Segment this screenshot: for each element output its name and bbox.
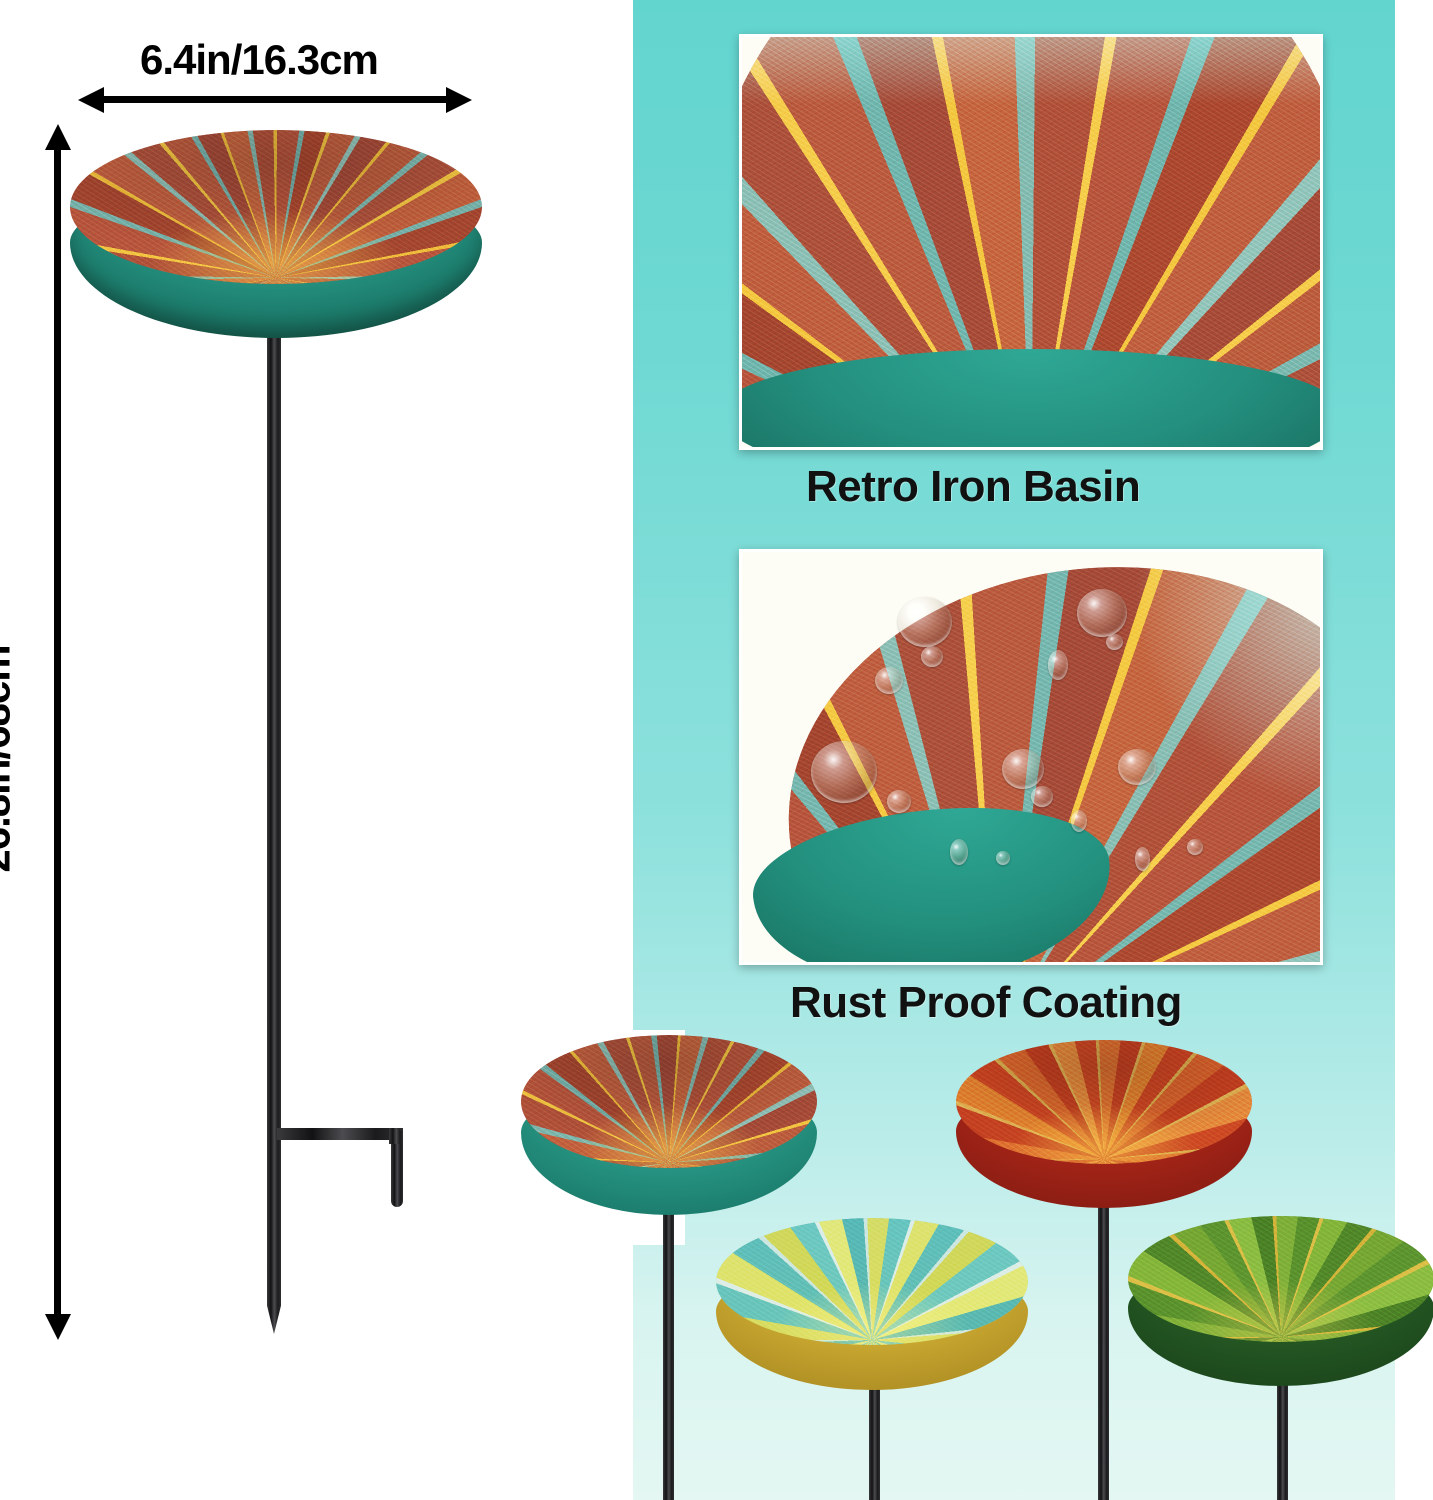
water-droplet: [1031, 786, 1053, 807]
width-dimension-label: 6.4in/16.3cm: [140, 36, 378, 84]
variant-bowl: [521, 1035, 817, 1215]
width-arrow-shaft: [100, 96, 452, 103]
feature-heading-rust-proof-coating: Rust Proof Coating: [790, 978, 1182, 1028]
variant-bowl-dish: [956, 1040, 1252, 1164]
variant-bowl: [716, 1218, 1028, 1390]
water-droplet: [950, 839, 968, 865]
product-infographic: 6.4in/16.3cm 26.8in/68cm: [0, 0, 1433, 1500]
variant-shading: [1128, 1216, 1433, 1342]
width-arrow-head-left: [78, 87, 104, 113]
bowl-dish: [70, 130, 482, 284]
height-arrow-head-top: [45, 124, 71, 150]
variant-shading: [956, 1040, 1252, 1164]
variant-shading: [716, 1218, 1028, 1345]
water-droplet: [875, 667, 903, 694]
variant-stake-rod: [1098, 1196, 1109, 1500]
water-droplet: [1002, 749, 1044, 789]
stake-footstep-corner: [389, 1128, 403, 1144]
stake-footstep-arm: [277, 1128, 403, 1140]
variant-shading: [521, 1035, 817, 1168]
feature-photo-rust-proof-coating: [739, 549, 1323, 965]
height-arrow-head-bottom: [45, 1314, 71, 1340]
width-arrow-head-right: [446, 87, 472, 113]
main-bowl: [70, 130, 482, 338]
water-droplet: [898, 597, 952, 647]
water-droplet: [887, 790, 911, 813]
variant-bowl: [1128, 1216, 1433, 1386]
closeup-underside: [742, 349, 1320, 447]
water-droplet: [1118, 749, 1156, 785]
water-droplet: [1187, 839, 1203, 855]
stake-rod: [267, 322, 281, 1334]
height-dimension-label: 26.8in/68cm: [0, 645, 20, 872]
water-droplet: [811, 741, 877, 803]
feature-photo-retro-iron-basin: [739, 34, 1323, 450]
water-droplet: [1077, 589, 1127, 637]
variant-bowl-dish: [1128, 1216, 1433, 1342]
variant-bowl-dish: [716, 1218, 1028, 1345]
variant-stake-rod: [663, 1210, 674, 1500]
feature-heading-retro-iron-basin: Retro Iron Basin: [806, 462, 1140, 512]
variant-bowl: [956, 1040, 1252, 1208]
variant-bowl-dish: [521, 1035, 817, 1168]
height-arrow-shaft: [54, 148, 61, 1318]
water-droplet: [1106, 634, 1123, 650]
bowl-shading: [70, 130, 482, 284]
